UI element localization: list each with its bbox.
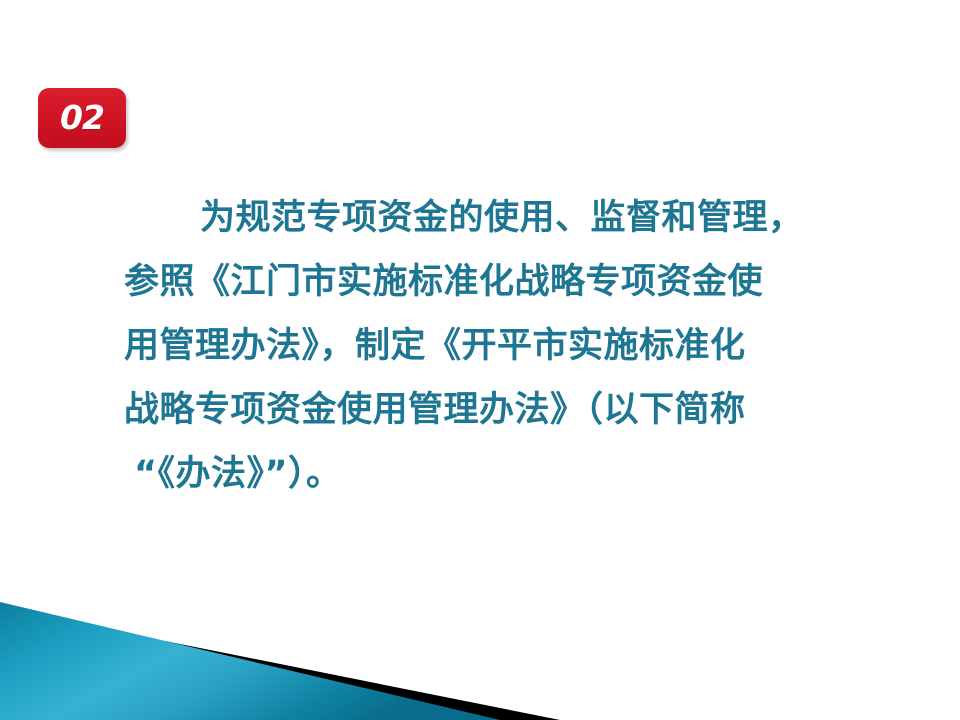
body-paragraph: 为规范专项资金的使用、监督和管理， 参照《江门市实施标准化战略专项资金使 用管理… bbox=[124, 186, 894, 506]
paragraph-line: 战略专项资金使用管理办法》（以下简称 bbox=[124, 378, 894, 442]
section-number-label: 02 bbox=[60, 101, 104, 134]
section-number-badge: 02 bbox=[38, 88, 126, 148]
slide-canvas: 02 为规范专项资金的使用、监督和管理， 参照《江门市实施标准化战略专项资金使 … bbox=[0, 0, 960, 720]
ribbon-svg bbox=[0, 590, 960, 720]
paragraph-line: 为规范专项资金的使用、监督和管理， bbox=[124, 186, 894, 250]
paragraph-line: 用管理办法》，制定《开平市实施标准化 bbox=[124, 314, 894, 378]
decorative-diagonal-ribbon bbox=[0, 590, 960, 720]
paragraph-line: “《办法》”）。 bbox=[124, 442, 894, 506]
paragraph-line: 参照《江门市实施标准化战略专项资金使 bbox=[124, 250, 894, 314]
